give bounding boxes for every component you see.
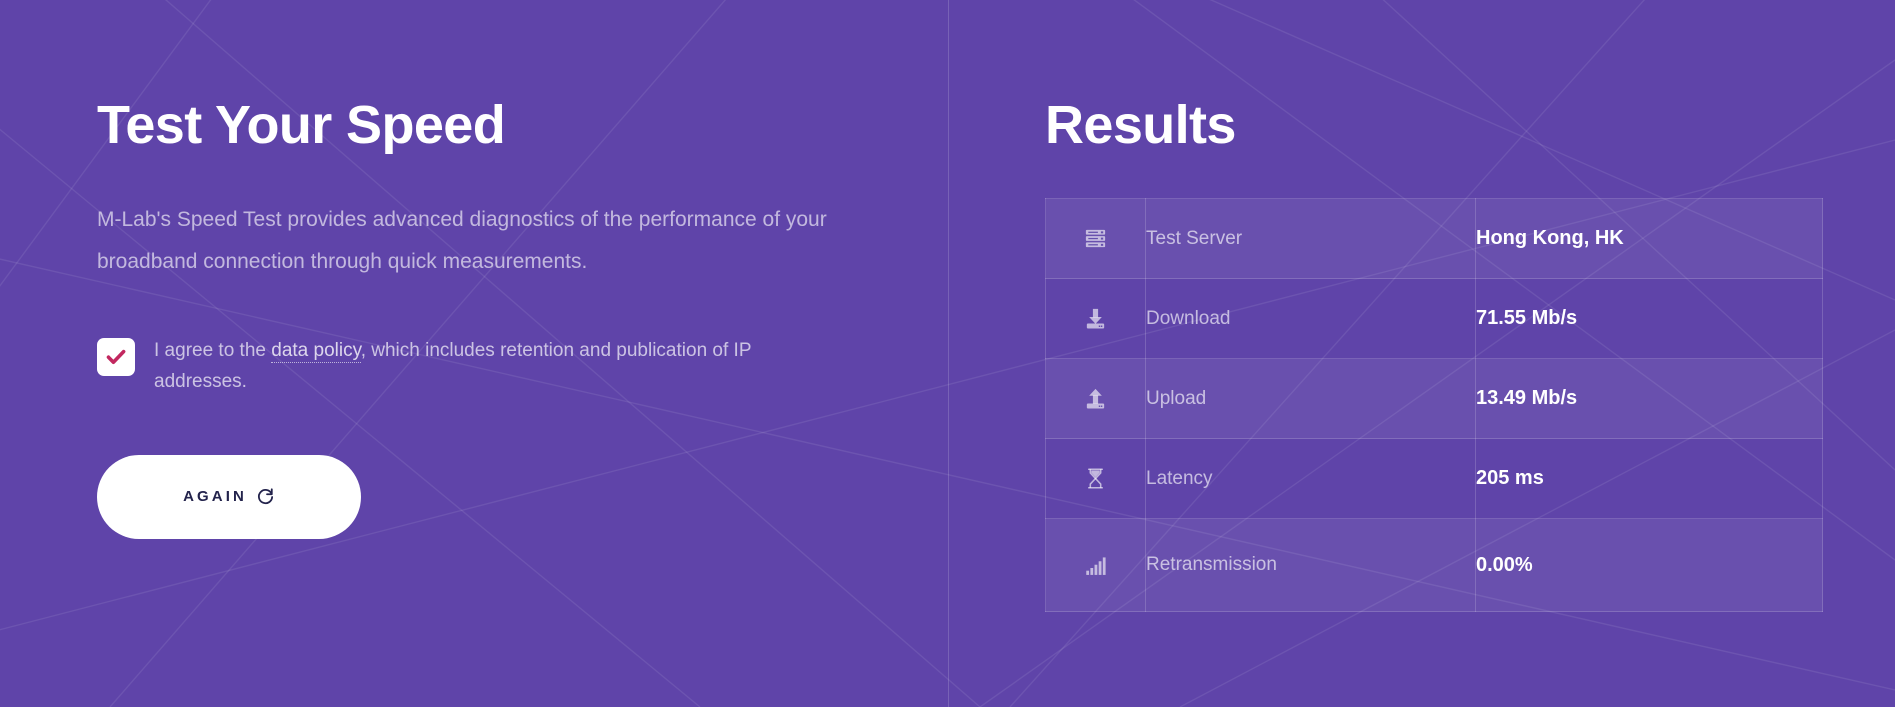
server-icon [1046, 226, 1145, 251]
results-panel: Results [1045, 0, 1845, 707]
again-button-label: AGAIN [183, 488, 247, 505]
results-title: Results [1045, 96, 1845, 155]
hourglass-icon [1046, 466, 1145, 491]
row-value: 13.49 Mb/s [1476, 359, 1823, 439]
signal-bars-icon [1046, 553, 1145, 578]
row-label: Latency [1146, 439, 1476, 519]
data-policy-checkbox[interactable] [97, 338, 135, 376]
row-value: 71.55 Mb/s [1476, 279, 1823, 359]
row-icon-cell [1046, 359, 1146, 439]
row-value: Hong Kong, HK [1476, 199, 1823, 279]
upload-icon [1046, 386, 1145, 411]
refresh-icon [256, 487, 275, 506]
row-value: 205 ms [1476, 439, 1823, 519]
test-your-speed-panel: Test Your Speed M-Lab's Speed Test provi… [97, 0, 917, 707]
row-icon-cell [1046, 519, 1146, 612]
consent-row: I agree to the data policy, which includ… [97, 335, 917, 398]
row-label: Test Server [1146, 199, 1476, 279]
row-label: Download [1146, 279, 1476, 359]
table-row: Test Server Hong Kong, HK [1046, 199, 1823, 279]
results-table: Test Server Hong Kong, HK [1045, 198, 1823, 612]
page-title: Test Your Speed [97, 96, 917, 155]
checkmark-icon [105, 346, 127, 368]
table-row: Download 71.55 Mb/s [1046, 279, 1823, 359]
table-row: Upload 13.49 Mb/s [1046, 359, 1823, 439]
row-label: Upload [1146, 359, 1476, 439]
row-icon-cell [1046, 439, 1146, 519]
download-icon [1046, 306, 1145, 331]
again-button[interactable]: AGAIN [97, 455, 361, 539]
row-value: 0.00% [1476, 519, 1823, 612]
intro-paragraph: M-Lab's Speed Test provides advanced dia… [97, 199, 872, 282]
data-policy-link[interactable]: data policy [271, 340, 360, 363]
row-label: Retransmission [1146, 519, 1476, 612]
table-row: Latency 205 ms [1046, 439, 1823, 519]
row-icon-cell [1046, 279, 1146, 359]
table-row: Retransmission 0.00% [1046, 519, 1823, 612]
consent-text-before: I agree to the [154, 340, 271, 361]
consent-label: I agree to the data policy, which includ… [154, 335, 779, 398]
row-icon-cell [1046, 199, 1146, 279]
speed-test-page: Test Your Speed M-Lab's Speed Test provi… [0, 0, 1895, 707]
